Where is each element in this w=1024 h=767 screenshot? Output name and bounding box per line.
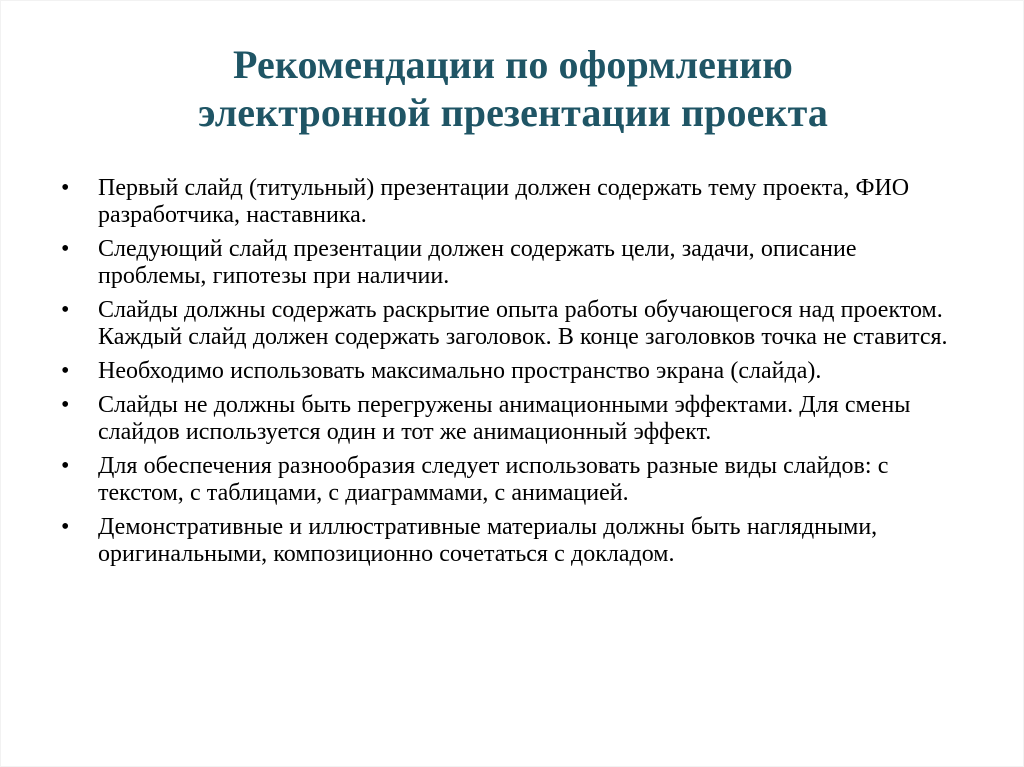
bullet-point-icon: • [55, 514, 98, 541]
slide-bullet-list: • Первый слайд (титульный) презентации д… [55, 175, 955, 575]
presentation-slide: Рекомендации по оформлению электронной п… [0, 0, 1024, 767]
bullet-point-icon: • [55, 453, 98, 480]
list-item: • Слайды должны содержать раскрытие опыт… [55, 297, 955, 351]
bullet-point-icon: • [55, 358, 98, 385]
bullet-point-icon: • [55, 392, 98, 419]
list-item-text: Первый слайд (титульный) презентации дол… [98, 175, 955, 229]
list-item: • Для обеспечения разнообразия следует и… [55, 453, 955, 507]
bullet-point-icon: • [55, 297, 98, 324]
slide-title: Рекомендации по оформлению электронной п… [53, 41, 973, 137]
bullet-point-icon: • [55, 236, 98, 263]
list-item: • Слайды не должны быть перегружены аним… [55, 392, 955, 446]
slide-title-line-1: Рекомендации по оформлению [53, 41, 973, 89]
bullet-point-icon: • [55, 175, 98, 202]
list-item-text: Демонстративные и иллюстративные материа… [98, 514, 955, 568]
list-item-text: Необходимо использовать максимально прос… [98, 358, 955, 385]
list-item-text: Слайды не должны быть перегружены анимац… [98, 392, 955, 446]
list-item-text: Слайды должны содержать раскрытие опыта … [98, 297, 955, 351]
list-item-text: Следующий слайд презентации должен содер… [98, 236, 955, 290]
list-item: • Демонстративные и иллюстративные матер… [55, 514, 955, 568]
list-item: • Следующий слайд презентации должен сод… [55, 236, 955, 290]
list-item-text: Для обеспечения разнообразия следует исп… [98, 453, 955, 507]
slide-title-line-2: электронной презентации проекта [53, 89, 973, 137]
list-item: • Первый слайд (титульный) презентации д… [55, 175, 955, 229]
list-item: • Необходимо использовать максимально пр… [55, 358, 955, 385]
